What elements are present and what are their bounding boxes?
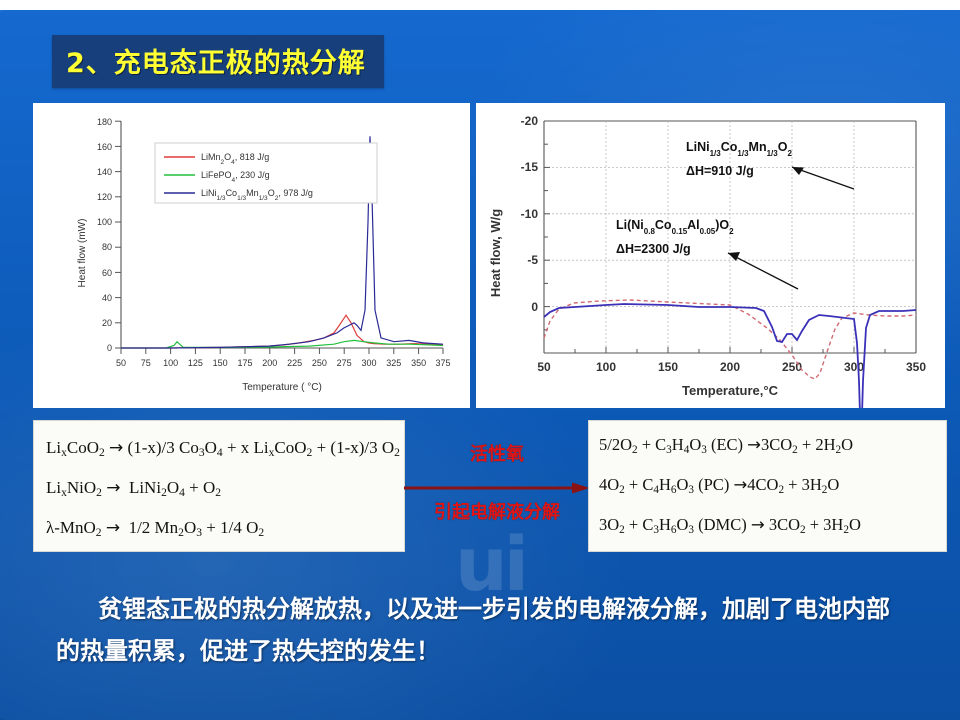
electrolyte-combustion-equations: 5/2O2 + C3H4O3 (EC) →3CO2 + 2H2O 4O2 + C…: [588, 420, 947, 552]
equation-row: 5/2O2 + C3H4O3 (EC) →3CO2 + 2H2O: [599, 437, 938, 456]
svg-text:20: 20: [102, 318, 112, 328]
right-chart-card: -20 -15 -10 -5 0: [476, 103, 945, 408]
svg-text:325: 325: [386, 358, 401, 368]
electrolyte-decomposition-label: 引起电解液分解: [404, 498, 590, 524]
svg-text:200: 200: [262, 358, 277, 368]
page-title: 2、充电态正极的热分解: [52, 35, 384, 88]
svg-text:40: 40: [102, 293, 112, 303]
right-x-ticklabels: 50 100 150 200 250 300 350: [537, 347, 926, 374]
active-oxygen-annotation: 活性氧 引起电解液分解: [404, 440, 590, 540]
red-arrow-icon: [400, 480, 594, 496]
svg-text:300: 300: [361, 358, 376, 368]
equation-row: 3O2 + C3H6O3 (DMC) → 3CO2 + 3H2O: [599, 517, 938, 536]
left-legend: LiMn2O4, 818 J/g LiFePO4, 230 J/g LiNi1/…: [155, 143, 377, 203]
svg-text:0: 0: [531, 300, 538, 314]
svg-text:225: 225: [287, 358, 302, 368]
svg-text:-10: -10: [521, 207, 539, 221]
svg-text:50: 50: [116, 358, 126, 368]
equation-row: LixNiO2 → LiNi2O4 + O2: [46, 479, 396, 499]
left-x-axis-label: Temperature ( °C): [242, 382, 322, 393]
svg-text:75: 75: [141, 358, 151, 368]
series-limn2o4: [121, 315, 443, 348]
equation-row: LixCoO2 → (1-x)/3 Co3O4 + x LixCoO2 + (1…: [46, 439, 396, 459]
svg-text:LiNi1/3Co1/3Mn1/3O2: LiNi1/3Co1/3Mn1/3O2: [686, 140, 792, 158]
svg-text:200: 200: [720, 360, 740, 374]
svg-text:60: 60: [102, 268, 112, 278]
svg-text:-5: -5: [527, 253, 538, 267]
svg-text:100: 100: [97, 217, 112, 227]
svg-text:275: 275: [337, 358, 352, 368]
left-y-ticklabels: 0 20 40 60 80 100 120 140 160 180: [97, 117, 121, 353]
cathode-decomposition-equations: LixCoO2 → (1-x)/3 Co3O4 + x LixCoO2 + (1…: [33, 420, 405, 552]
right-y-ticklabels: -20 -15 -10 -5 0: [521, 114, 550, 330]
svg-text:180: 180: [97, 117, 112, 127]
right-annotation-nmc: LiNi1/3Co1/3Mn1/3O2 ΔH=910 J/g: [686, 140, 854, 189]
equation-row: λ-MnO2 → 1/2 Mn2O3 + 1/4 O2: [46, 519, 396, 539]
svg-text:Li(Ni0.8Co0.15Al0.05)O2: Li(Ni0.8Co0.15Al0.05)O2: [616, 218, 734, 236]
svg-text:125: 125: [188, 358, 203, 368]
svg-text:350: 350: [411, 358, 426, 368]
left-dsc-chart: 0 20 40 60 80 100 120 140 160 180: [33, 103, 470, 408]
svg-text:-15: -15: [521, 160, 539, 174]
svg-text:140: 140: [97, 167, 112, 177]
svg-text:375: 375: [435, 358, 450, 368]
svg-text:50: 50: [537, 360, 551, 374]
right-gridlines: [544, 121, 916, 353]
left-chart-card: 0 20 40 60 80 100 120 140 160 180: [33, 103, 470, 408]
right-annotation-nca: Li(Ni0.8Co0.15Al0.05)O2 ΔH=2300 J/g: [616, 218, 798, 289]
svg-text:160: 160: [97, 142, 112, 152]
svg-text:100: 100: [596, 360, 616, 374]
right-dsc-chart: -20 -15 -10 -5 0: [476, 103, 945, 408]
left-x-ticklabels: 50 75 100 125 150 175 200 225 250 275 30…: [116, 348, 451, 368]
svg-text:300: 300: [844, 360, 864, 374]
left-y-axis-label: Heat flow (mW): [77, 219, 88, 288]
svg-text:150: 150: [213, 358, 228, 368]
svg-text:100: 100: [163, 358, 178, 368]
svg-text:80: 80: [102, 242, 112, 252]
right-y-axis-label: Heat flow, W/g: [488, 209, 503, 297]
svg-text:250: 250: [782, 360, 802, 374]
equation-row: 4O2 + C4H6O3 (PC) →4CO2 + 3H2O: [599, 477, 938, 496]
active-oxygen-label: 活性氧: [404, 440, 590, 466]
page-title-text: 2、充电态正极的热分解: [66, 48, 366, 79]
svg-text:120: 120: [97, 192, 112, 202]
svg-text:ΔH=910 J/g: ΔH=910 J/g: [686, 164, 754, 178]
svg-text:0: 0: [107, 343, 112, 353]
svg-text:350: 350: [906, 360, 926, 374]
svg-text:250: 250: [312, 358, 327, 368]
svg-text:150: 150: [658, 360, 678, 374]
conclusion-text: 贫锂态正极的热分解放热，以及进一步引发的电解液分解，加剧了电池内部的热量积累，促…: [56, 588, 906, 672]
right-x-axis-label: Temperature,°C: [682, 383, 779, 398]
svg-text:-20: -20: [521, 114, 539, 128]
svg-text:175: 175: [237, 358, 252, 368]
svg-text:ΔH=2300 J/g: ΔH=2300 J/g: [616, 242, 691, 256]
slide-canvas: ui 2、充电态正极的热分解: [0, 0, 960, 720]
